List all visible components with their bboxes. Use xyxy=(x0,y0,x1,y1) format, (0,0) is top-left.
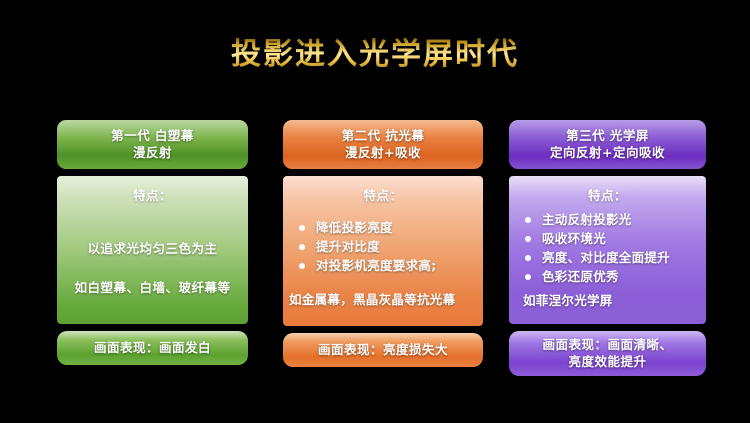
column-2-footer-line1: 画面表现：亮度损失大 xyxy=(287,341,479,358)
list-item: 对投影机亮度要求高; xyxy=(297,256,475,275)
column-1-header: 第一代 白塑幕 漫反射 xyxy=(57,120,248,169)
column-2-header: 第二代 抗光幕 漫反射+吸收 xyxy=(283,120,483,169)
list-item: 色彩还原优秀 xyxy=(523,267,698,286)
column-3-footer: 画面表现：画面清晰、 亮度效能提升 xyxy=(509,331,706,376)
column-2-header-line2: 漫反射+吸收 xyxy=(287,144,479,161)
column-1-footer-line1: 画面表现：画面发白 xyxy=(61,339,244,356)
column-3-footer-line2: 亮度效能提升 xyxy=(513,353,702,370)
column-1-line-1: 以追求光均匀三色为主 xyxy=(57,238,248,257)
column-3-header-line1: 第三代 光学屏 xyxy=(513,127,702,144)
list-item: 提升对比度 xyxy=(297,237,475,256)
column-1-feature-label: 特点： xyxy=(57,176,248,204)
list-item: 亮度、对比度全面提升 xyxy=(523,248,698,267)
column-1-footer: 画面表现：画面发白 xyxy=(57,331,248,365)
column-2-tail-text: 如金属幕，黑晶灰晶等抗光幕 xyxy=(289,289,479,308)
generation-column-2: 第二代 抗光幕 漫反射+吸收 特点： 降低投影亮度 提升对比度 对投影机亮度要求… xyxy=(283,120,483,367)
list-item: 主动反射投影光 xyxy=(523,210,698,229)
column-3-feature-label: 特点： xyxy=(509,176,706,204)
slide-root: 投影进入光学屏时代 第一代 白塑幕 漫反射 特点： 以追求光均匀三色为主 如白塑… xyxy=(0,0,750,423)
column-1-text-lines: 以追求光均匀三色为主 如白塑幕、白墙、玻纤幕等 xyxy=(57,238,248,296)
column-3-header-line2: 定向反射+定向吸收 xyxy=(513,144,702,161)
generation-column-1: 第一代 白塑幕 漫反射 特点： 以追求光均匀三色为主 如白塑幕、白墙、玻纤幕等 … xyxy=(57,120,248,365)
column-2-body: 特点： 降低投影亮度 提升对比度 对投影机亮度要求高; 如金属幕，黑晶灰晶等抗光… xyxy=(283,176,483,326)
column-2-feature-label: 特点： xyxy=(283,176,483,204)
column-1-line-2: 如白塑幕、白墙、玻纤幕等 xyxy=(57,277,248,296)
column-3-footer-line1: 画面表现：画面清晰、 xyxy=(513,336,702,353)
column-1-body: 特点： 以追求光均匀三色为主 如白塑幕、白墙、玻纤幕等 xyxy=(57,176,248,324)
column-2-footer: 画面表现：亮度损失大 xyxy=(283,333,483,367)
generation-column-3: 第三代 光学屏 定向反射+定向吸收 特点： 主动反射投影光 吸收环境光 亮度、对… xyxy=(509,120,706,376)
page-title: 投影进入光学屏时代 xyxy=(0,36,750,74)
column-3-header: 第三代 光学屏 定向反射+定向吸收 xyxy=(509,120,706,169)
column-2-bullet-list: 降低投影亮度 提升对比度 对投影机亮度要求高; xyxy=(297,218,475,275)
column-1-header-line2: 漫反射 xyxy=(61,144,244,161)
column-3-tail-text: 如菲涅尔光学屏 xyxy=(523,290,702,309)
column-3-bullet-list: 主动反射投影光 吸收环境光 亮度、对比度全面提升 色彩还原优秀 xyxy=(523,210,698,286)
column-2-header-line1: 第二代 抗光幕 xyxy=(287,127,479,144)
list-item: 降低投影亮度 xyxy=(297,218,475,237)
list-item: 吸收环境光 xyxy=(523,229,698,248)
column-1-header-line1: 第一代 白塑幕 xyxy=(61,127,244,144)
column-3-body: 特点： 主动反射投影光 吸收环境光 亮度、对比度全面提升 色彩还原优秀 如菲涅尔… xyxy=(509,176,706,324)
